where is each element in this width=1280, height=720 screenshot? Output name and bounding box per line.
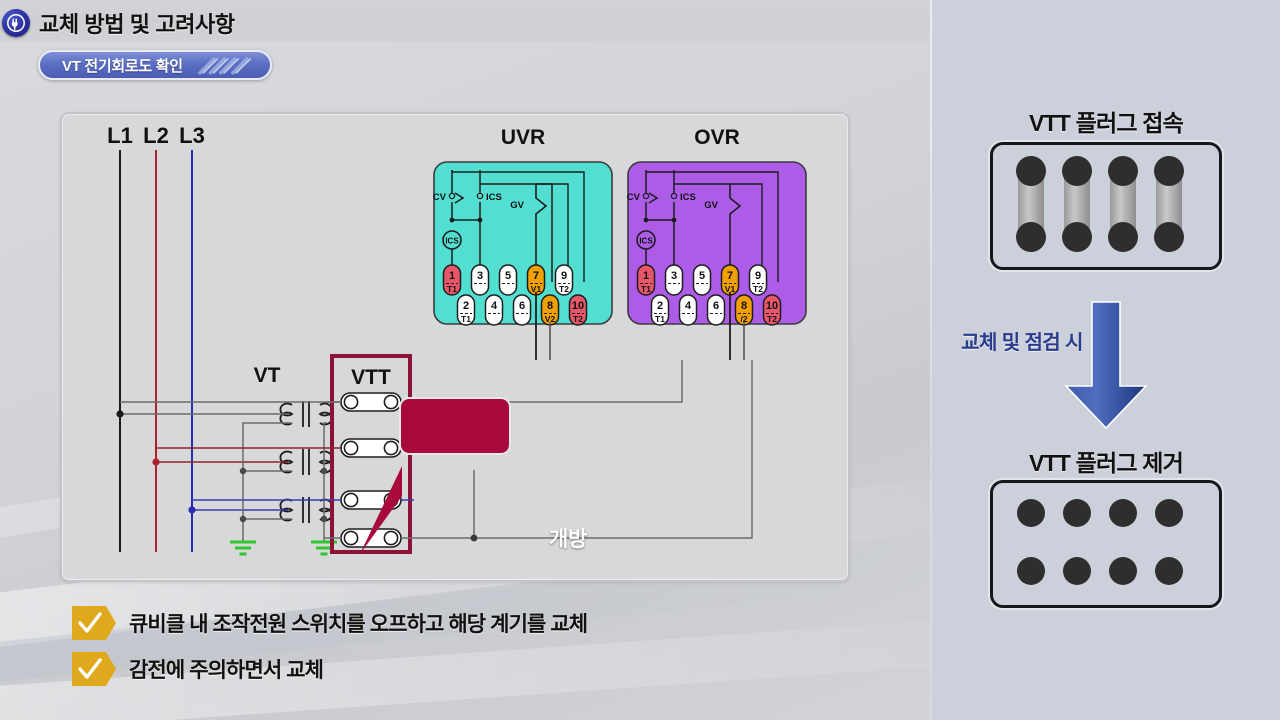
pin-number: 7 (727, 270, 733, 282)
pin-sublabel: T2 (753, 284, 763, 294)
phase-label: L3 (179, 123, 205, 148)
vt-label: VT (254, 364, 281, 387)
pin-sublabel: T2 (767, 314, 777, 324)
pin-number: 5 (699, 270, 705, 282)
header: 교체 방법 및 고려사항 (0, 6, 235, 40)
vtt-link (341, 439, 401, 457)
plug-pin (1108, 222, 1138, 252)
pin-sublabel: T1 (641, 284, 651, 294)
check-icon (72, 606, 116, 640)
sidebar: VTT 플러그 접속 교체 및 점검 시 VTT 플러그 제거 (932, 0, 1280, 720)
cv-label: CV (433, 192, 447, 203)
pin-number: 4 (491, 300, 498, 312)
pin-number: 9 (561, 270, 567, 282)
gv-label: GV (704, 200, 718, 211)
pin-sublabel: T2 (573, 314, 583, 324)
plug-pin (1063, 557, 1091, 585)
pin-number: 8 (741, 300, 747, 312)
plug-pin (1017, 557, 1045, 585)
list-item: 감전에 주의하면서 교체 (72, 646, 892, 692)
relay-title: OVR (694, 126, 740, 149)
pin-number: 2 (657, 300, 663, 312)
subtitle-label: VT 전기회로도 확인 (62, 55, 183, 76)
ics-label: ICS (486, 192, 502, 203)
checklist-text: 감전에 주의하면서 교체 (129, 654, 323, 684)
plug-pin (1155, 557, 1183, 585)
pin-number: 3 (671, 270, 677, 282)
ground-symbol (230, 542, 256, 554)
relay-title: UVR (501, 126, 545, 149)
pin-number: 2 (463, 300, 469, 312)
plug-pin (1016, 222, 1046, 252)
plug-pin (1062, 156, 1092, 186)
plug-pin (1017, 499, 1045, 527)
pin-number: 5 (505, 270, 511, 282)
pin-number: 10 (766, 300, 778, 312)
plug-pin (1109, 499, 1137, 527)
plug-circle-icon (2, 9, 30, 37)
cv-label: CV (627, 192, 641, 203)
sidebar-top-heading: VTT 플러그 접속 (932, 104, 1280, 138)
vtt-label: VTT (351, 366, 391, 389)
pin-number: 10 (572, 300, 584, 312)
phase-label: L1 (107, 123, 133, 148)
page-title: 교체 방법 및 고려사항 (39, 7, 235, 39)
gv-label: GV (510, 200, 524, 211)
pin-number: 1 (449, 270, 455, 282)
pin-number: 6 (519, 300, 525, 312)
pin-sublabel: T2 (559, 284, 569, 294)
ics-coil-label: ICS (639, 237, 653, 246)
vtt-link (341, 393, 401, 411)
plug-pin (1154, 222, 1184, 252)
pin-sublabel: T1 (461, 314, 471, 324)
sidebar-bottom-heading: VTT 플러그 제거 (932, 444, 1280, 478)
check-icon (72, 652, 116, 686)
list-item: 큐비클 내 조작전원 스위치를 오프하고 해당 계기를 교체 (72, 600, 892, 646)
phase-label: L2 (143, 123, 169, 148)
circuit-diagram: L1L2L3UVRCVICSICSGV1T1357V19T22T1468V210… (62, 114, 848, 580)
pin-sublabel: T1 (447, 284, 457, 294)
plug-pin (1016, 156, 1046, 186)
pin-number: 9 (755, 270, 761, 282)
checklist: 큐비클 내 조작전원 스위치를 오프하고 해당 계기를 교체 감전에 주의하면서… (72, 600, 892, 692)
plug-pin (1062, 222, 1092, 252)
ics-label: ICS (680, 192, 696, 203)
pin-number: 7 (533, 270, 539, 282)
plug-pin (1109, 557, 1137, 585)
pin-number: 3 (477, 270, 483, 282)
pin-number: 6 (713, 300, 719, 312)
plug-pin (1154, 156, 1184, 186)
plug-pin (1155, 499, 1183, 527)
plug-pin (1063, 499, 1091, 527)
checklist-text: 큐비클 내 조작전원 스위치를 오프하고 해당 계기를 교체 (129, 608, 587, 638)
vtt-plug-removed (990, 480, 1222, 608)
pin-number: 1 (643, 270, 649, 282)
circuit-diagram-panel: L1L2L3UVRCVICSICSGV1T1357V19T22T1468V210… (60, 112, 850, 582)
vt-secondary-coil (320, 404, 332, 425)
plug-pin (1108, 156, 1138, 186)
pin-sublabel: T1 (655, 314, 665, 324)
down-arrow-icon (1060, 300, 1152, 430)
subtitle-badge: VT 전기회로도 확인 (38, 50, 272, 80)
pin-number: 8 (547, 300, 553, 312)
vtt-plug-connected (990, 142, 1222, 270)
ics-coil-label: ICS (445, 237, 459, 246)
stripes-decoration (190, 52, 262, 78)
pin-number: 4 (685, 300, 692, 312)
